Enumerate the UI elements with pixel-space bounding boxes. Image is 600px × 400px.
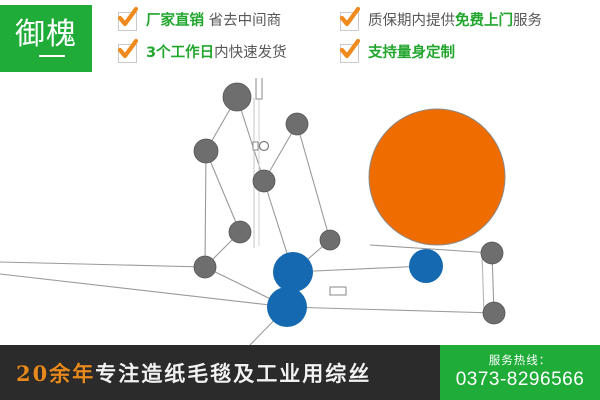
gray-roller-3 [194,139,218,163]
promotional-banner-page: 御槐 厂家直销 省去中间商 质保期内提供免费上门服务 [0,0,600,400]
felt-segment-b [205,151,206,267]
brand-logo-underline [39,55,65,57]
feature-rest-3: 内快速发货 [214,45,287,61]
paper-machine-schematic-svg [0,78,600,345]
blue-roller-group [267,249,443,327]
gray-roller-5 [229,221,251,243]
blue-press-roller-top [273,252,313,292]
feature-item-fast-shipping: 3个工作日内快速发货 [118,44,287,63]
footer-slogan: 20余年专注造纸毛毯及工业用综丝 [16,345,371,400]
feature-item-warranty-service: 质保期内提供免费上门服务 [340,12,542,31]
footer-bar: 20余年专注造纸毛毯及工业用综丝 服务热线： 0373-8296566 [0,345,600,400]
felt-segment-c [206,151,240,232]
gray-roller-9 [483,302,505,324]
felt-segment-g [297,124,330,240]
feature-rest-2: 服务 [513,13,542,29]
hotline-panel[interactable]: 服务热线： 0373-8296566 [440,345,600,400]
feature-rest-1: 省去中间商 [204,13,281,29]
checkmark-icon [340,12,359,31]
checkmark-icon [118,44,137,63]
gray-roller-2 [286,113,308,135]
brand-logo[interactable]: 御槐 [0,5,92,72]
doctor-blade-detail [253,78,272,183]
gray-roller-8 [481,242,503,264]
brand-logo-text: 御槐 [15,20,77,50]
feature-label-fast-shipping: 3个工作日内快速发货 [146,46,287,61]
header-bar: 御槐 厂家直销 省去中间商 质保期内提供免费上门服务 [0,0,600,78]
feature-label-warranty-service: 质保期内提供免费上门服务 [368,14,542,29]
feature-item-factory-direct: 厂家直销 省去中间商 [118,12,281,31]
feature-pre-2: 质保期内提供 [368,13,455,29]
right-vertical-line-2 [482,253,484,313]
footer-slogan-text: 专注造纸毛毯及工业用综丝 [95,358,371,388]
blue-press-roller-dryer [409,249,443,283]
feature-highlight-1: 厂家直销 [146,13,204,29]
gray-roller-1 [223,83,251,111]
feature-label-factory-direct: 厂家直销 省去中间商 [146,14,281,29]
feature-highlight-2: 免费上门 [455,13,513,29]
blue-press-roller-bottom [267,287,307,327]
gray-roller-6 [194,256,216,278]
feature-highlight-4: 支持量身定制 [368,45,455,61]
inline-device [330,287,346,295]
footer-years-highlight: 20余年 [16,358,95,388]
checkmark-icon [340,44,359,63]
web-line-left [0,262,205,267]
paper-machine-diagram [0,78,600,345]
feature-label-custom-made: 支持量身定制 [368,46,455,61]
web-line-through-press [287,307,494,313]
gray-roller-7 [320,230,340,250]
yankee-dryer-cylinder [369,109,505,245]
feature-item-custom-made: 支持量身定制 [340,44,455,63]
feature-highlight-3: 3个工作日 [146,45,214,61]
hotline-label: 服务热线： [489,353,552,368]
gray-roller-4 [253,170,275,192]
hotline-number: 0373-8296566 [456,368,585,392]
checkmark-icon [118,12,137,31]
web-line-lower-left [0,274,287,307]
